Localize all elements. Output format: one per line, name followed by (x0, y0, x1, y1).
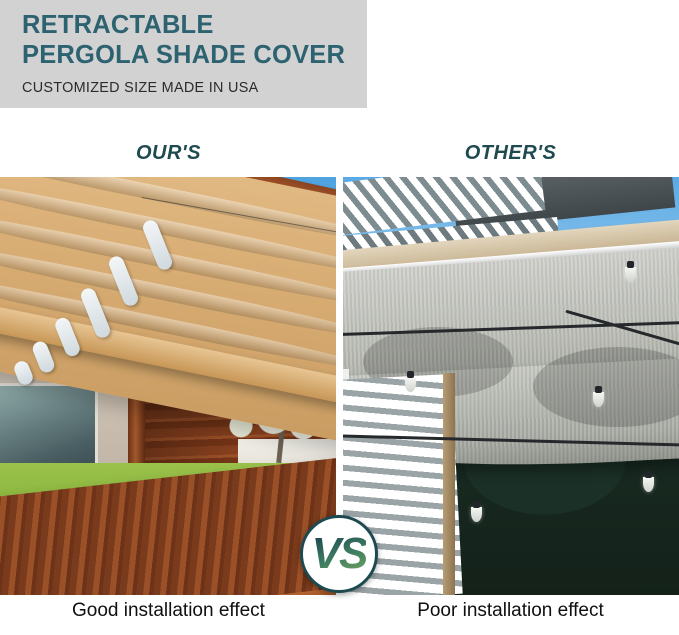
column-title-ours: OUR'S (0, 142, 337, 165)
page-title: RETRACTABLE PERGOLA SHADE COVER (22, 11, 367, 71)
wooden-post-right (443, 373, 455, 595)
vs-badge-label: VS (312, 532, 367, 576)
product-comparison-image: RETRACTABLE PERGOLA SHADE COVER CUSTOMIZ… (0, 0, 679, 635)
title-line-1: RETRACTABLE (22, 11, 214, 39)
comparison-titles: OUR'S OTHER'S (0, 142, 679, 172)
photo-comparison: VS (0, 177, 679, 595)
vs-badge: VS (300, 515, 378, 593)
caption-poor: Poor installation effect (342, 600, 679, 622)
photo-good-installation (0, 177, 336, 595)
header-banner: RETRACTABLE PERGOLA SHADE COVER CUSTOMIZ… (0, 0, 367, 108)
column-title-others: OTHER'S (342, 142, 679, 165)
header-subtitle: CUSTOMIZED SIZE MADE IN USA (22, 80, 367, 96)
photo-captions: Good installation effect Poor installati… (0, 600, 679, 635)
caption-good: Good installation effect (0, 600, 337, 622)
photo-poor-installation (343, 177, 679, 595)
title-line-2: PERGOLA SHADE COVER (22, 41, 367, 71)
